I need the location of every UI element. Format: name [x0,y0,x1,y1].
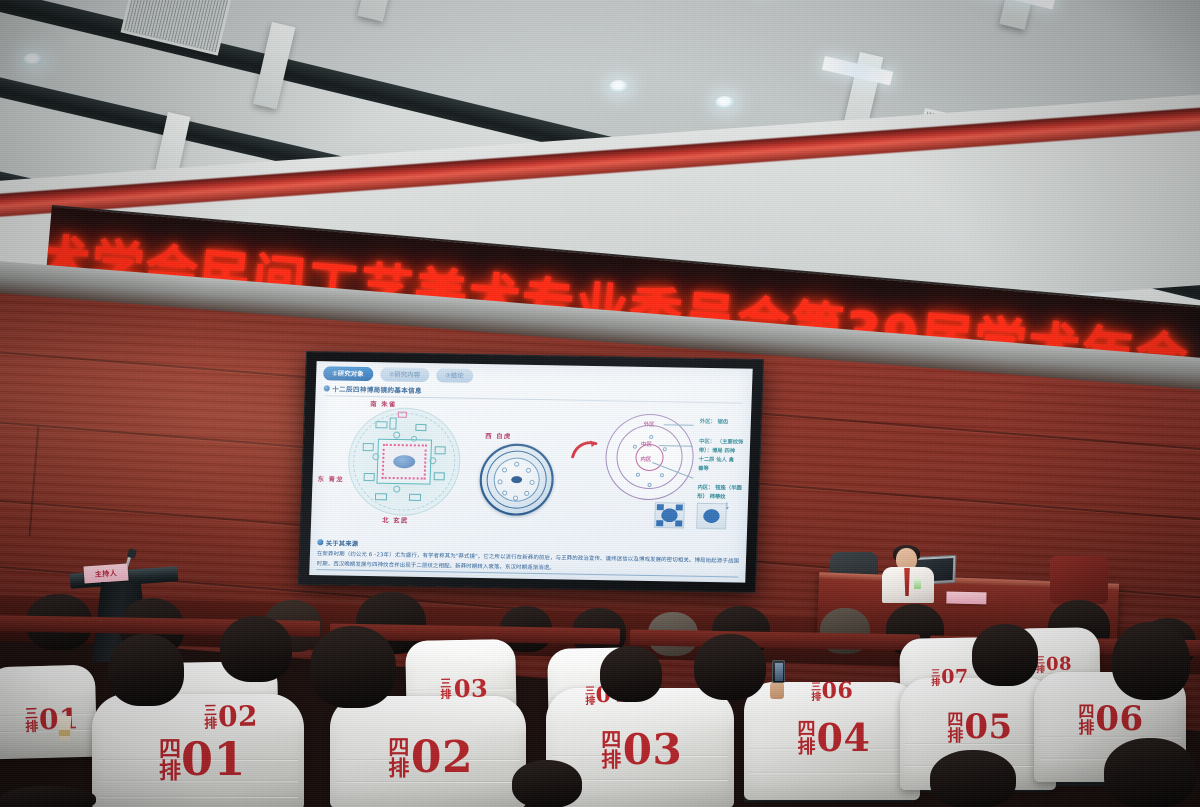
seat-label: 四排 05 [914,702,1044,752]
label-south-vermilion-bird: 南 朱雀 [370,399,397,408]
audience-seating: 三排 01 三排 02 三排 03 三排 04 三排 06 [0,590,1200,807]
zone-legend-inner: 内区： 钮座（半圆 [697,485,742,494]
seat-label: 四排 01 [118,728,284,790]
zone-legend-outer: 外区： 锯齿 [700,419,729,427]
projector-screen-frame: ①研究对象 ②研究内容 ③结论 十二辰四神博局镜的基本信息 [299,352,763,592]
tab-research-object[interactable]: ①研究对象 [323,366,373,381]
bullet-dot-icon [317,539,323,545]
seat-label: 三排 03 [424,667,505,708]
zone-label-inner: 内区 [640,455,651,463]
moderator-nameplate: 主持人 [83,563,128,583]
source-heading: 关于其来源 [326,538,359,548]
label-west-white-tiger: 西 白虎 [485,431,512,440]
zone-legend-inner-2: 形） 柿蒂纹 [697,494,726,502]
slide-source-block: 关于其来源 在新莽时期（约公元 6 -23年）尤为盛行，有学者称其为"莽式镜"。… [316,538,739,577]
bojv-mirror-diagram [346,407,462,517]
ceiling-downlight-icon [609,80,629,93]
conference-hall-photo: 中国工艺美术学会民间工艺美术专业委员会第39届学术年会（学术论坛） ①研究对象 … [0,0,1200,807]
tab-research-content[interactable]: ②研究内容 [380,367,430,382]
knob-sample-a [654,502,685,529]
zone-legend-middle-4: 兽等 [698,466,709,474]
seat-label: 四排 03 [566,720,716,778]
microphone-head-icon [127,548,137,559]
smartphone[interactable] [772,660,785,683]
tab-conclusion[interactable]: ③结论 [436,368,473,382]
seat-label: 四排 04 [762,710,904,764]
knob-sample-b [696,503,727,530]
flow-arrow-icon [570,439,599,459]
moderator-nameplate-text: 主持人 [94,568,117,580]
seat-label: 三排 06 [792,671,871,710]
seat-label: 三排 01 [9,697,92,741]
projected-slide: ①研究对象 ②研究内容 ③结论 十二辰四神博局镜的基本信息 [309,361,752,582]
seat-label: 四排 06 [1046,694,1174,744]
zone-legend-middle-2: 带）：博局 四神 [699,448,736,457]
zone-label-outer: 外区 [644,420,655,428]
seat-label: 四排 02 [352,728,508,786]
slide-heading: 十二辰四神博局镜的基本信息 [332,383,422,395]
mirror-back-diagram [478,443,555,516]
slide-figure-area: 南 朱雀 东 青龙 北 玄武 西 白虎 [318,397,745,533]
zone-legend-middle: 中区： （主要纹饰 [699,439,744,448]
label-north-black-tortoise: 北 玄武 [382,516,409,525]
ceiling-downlight-icon [715,96,735,109]
zone-label-middle: 中区 [641,440,652,448]
ceiling-downlight-icon [23,53,43,66]
bullet-dot-icon [324,385,330,391]
label-east-azure-dragon: 东 青龙 [317,474,344,483]
zone-legend-middle-3: 十二辰 仙人 禽 [698,457,734,466]
